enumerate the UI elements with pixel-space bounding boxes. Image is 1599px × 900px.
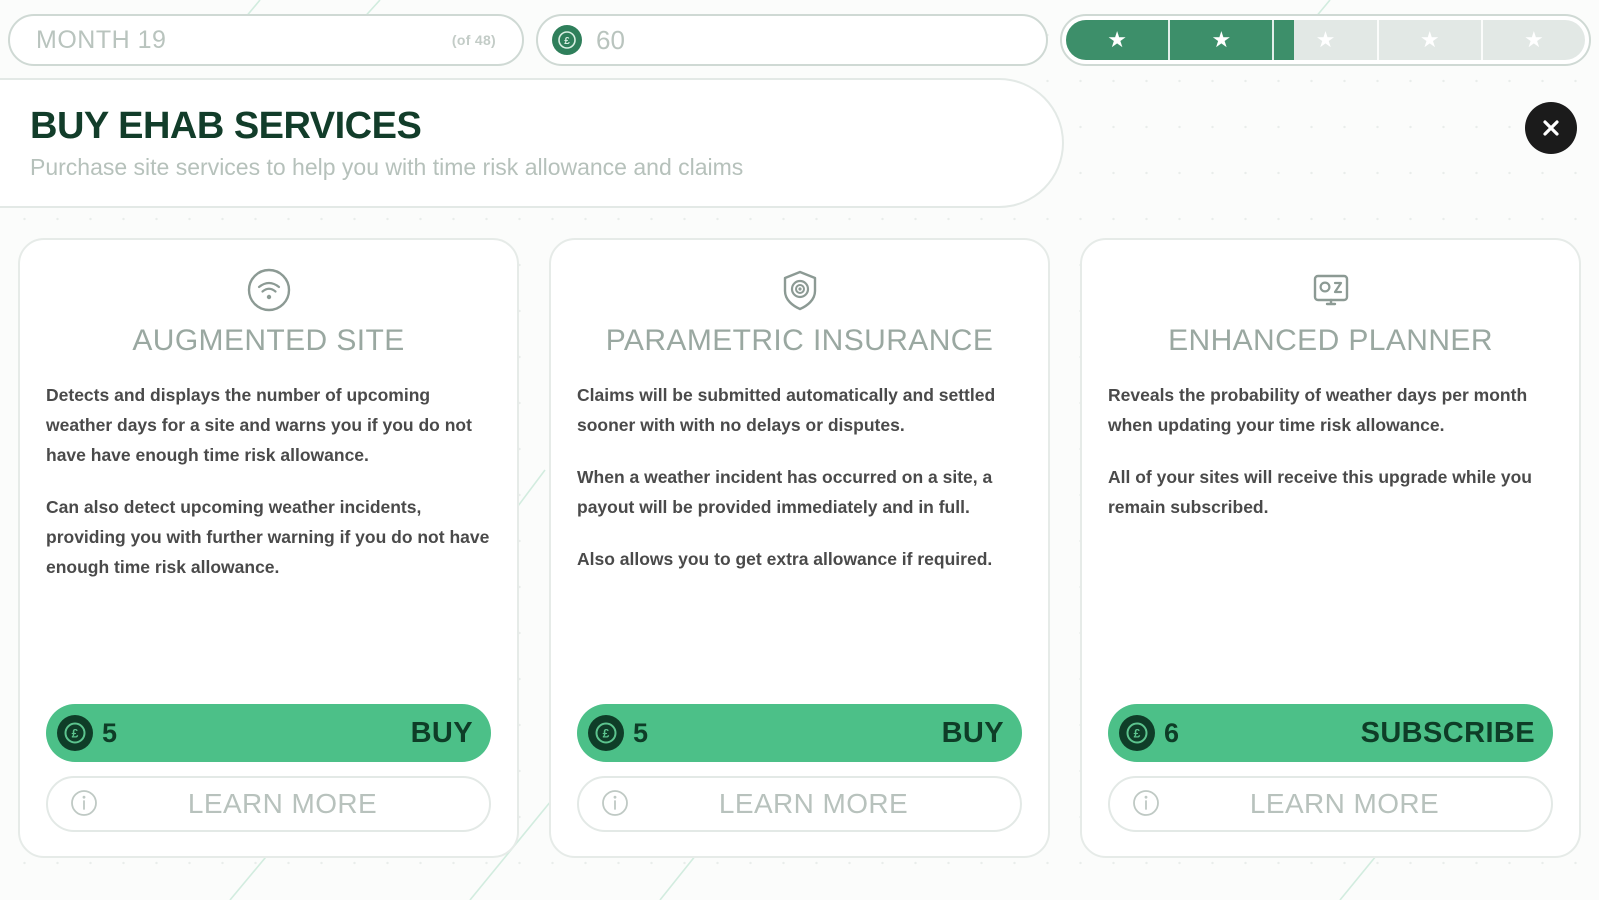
page-title: BUY EHAB SERVICES [30, 105, 1062, 148]
card-body: Reveals the probability of weather days … [1108, 380, 1553, 704]
close-icon [1539, 116, 1563, 140]
learn-more-label: LEARN MORE [1160, 788, 1529, 820]
card-paragraph: Reveals the probability of weather days … [1108, 380, 1553, 440]
star-icon: ★ [1211, 29, 1231, 51]
svg-text:£: £ [564, 36, 570, 47]
star-segment-3: ★ [1274, 20, 1378, 60]
buy-price-group: £ 5 [588, 715, 648, 751]
buy-action-label: SUBSCRIBE [1361, 717, 1535, 750]
learn-more-button[interactable]: LEARN MORE [46, 776, 491, 832]
coin-icon: £ [588, 715, 624, 751]
service-card-enhanced-planner: ENHANCED PLANNER Reveals the probability… [1080, 238, 1581, 858]
svg-text:£: £ [72, 727, 79, 741]
page-subtitle: Purchase site services to help you with … [30, 154, 1062, 181]
card-title: PARAMETRIC INSURANCE [577, 324, 1022, 358]
star-icon: ★ [1524, 29, 1544, 51]
page-header: BUY EHAB SERVICES Purchase site services… [0, 78, 1064, 208]
star-icon: ★ [1107, 29, 1127, 51]
card-paragraph: Can also detect upcoming weather inciden… [46, 492, 491, 582]
card-paragraph: Detects and displays the number of upcom… [46, 380, 491, 470]
close-button[interactable] [1525, 102, 1577, 154]
star-segment-2: ★ [1170, 20, 1274, 60]
svg-text:£: £ [603, 727, 610, 741]
buy-price-group: £ 6 [1119, 715, 1179, 751]
coin-icon: £ [1119, 715, 1155, 751]
star-segment-4: ★ [1379, 20, 1483, 60]
learn-more-button[interactable]: LEARN MORE [1108, 776, 1553, 832]
card-body: Detects and displays the number of upcom… [46, 380, 491, 704]
card-body: Claims will be submitted automatically a… [577, 380, 1022, 704]
buy-action-label: BUY [411, 717, 473, 750]
card-title: ENHANCED PLANNER [1108, 324, 1553, 358]
star-icon: ★ [1420, 29, 1440, 51]
star-segment-5: ★ [1483, 20, 1585, 60]
status-bar: MONTH 19 (of 48) £ 60 ★ ★ ★ ★ ★ [0, 12, 1599, 68]
star-progress-track: ★ ★ ★ ★ ★ [1066, 20, 1585, 60]
buy-action-label: BUY [942, 717, 1004, 750]
star-icon: ★ [1316, 29, 1336, 51]
service-card-parametric-insurance: PARAMETRIC INSURANCE Claims will be subm… [549, 238, 1050, 858]
credits-value: 60 [596, 25, 625, 56]
buy-button[interactable]: £ 5 BUY [577, 704, 1022, 762]
card-paragraph: Claims will be submitted automatically a… [577, 380, 1022, 440]
learn-more-button[interactable]: LEARN MORE [577, 776, 1022, 832]
month-total-label: (of 48) [452, 32, 496, 48]
buy-price: 5 [102, 718, 117, 749]
month-indicator[interactable]: MONTH 19 (of 48) [8, 14, 524, 66]
service-card-augmented-site: AUGMENTED SITE Detects and displays the … [18, 238, 519, 858]
monitor-chart-icon [1108, 262, 1553, 318]
wifi-signal-icon [46, 262, 491, 318]
subscribe-button[interactable]: £ 6 SUBSCRIBE [1108, 704, 1553, 762]
info-circle-icon [601, 789, 629, 820]
star-progress-bar[interactable]: ★ ★ ★ ★ ★ [1060, 14, 1591, 66]
card-paragraph: All of your sites will receive this upgr… [1108, 462, 1553, 522]
buy-price-group: £ 5 [57, 715, 117, 751]
buy-button[interactable]: £ 5 BUY [46, 704, 491, 762]
coin-icon: £ [552, 25, 582, 55]
service-card-list: AUGMENTED SITE Detects and displays the … [0, 238, 1599, 858]
info-circle-icon [70, 789, 98, 820]
learn-more-label: LEARN MORE [629, 788, 998, 820]
learn-more-label: LEARN MORE [98, 788, 467, 820]
card-paragraph: Also allows you to get extra allowance i… [577, 544, 1022, 574]
svg-text:£: £ [1134, 727, 1141, 741]
credits-indicator[interactable]: £ 60 [536, 14, 1048, 66]
card-paragraph: When a weather incident has occurred on … [577, 462, 1022, 522]
buy-price: 6 [1164, 718, 1179, 749]
info-circle-icon [1132, 789, 1160, 820]
star-segment-1: ★ [1066, 20, 1170, 60]
buy-price: 5 [633, 718, 648, 749]
month-label: MONTH 19 [36, 26, 166, 55]
card-title: AUGMENTED SITE [46, 324, 491, 358]
coin-icon: £ [57, 715, 93, 751]
shield-target-icon [577, 262, 1022, 318]
